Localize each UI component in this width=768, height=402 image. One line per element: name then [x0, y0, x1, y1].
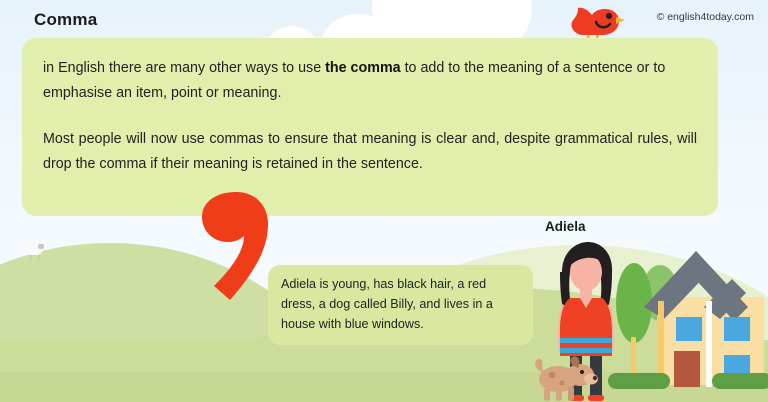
lesson-paragraph-1-part-a: in English there are many other ways to …	[43, 60, 325, 76]
character-name-label: Adiela	[545, 219, 586, 234]
lesson-poster: Comma © english4today.com in English the…	[0, 0, 768, 402]
house-window-icon	[676, 317, 702, 341]
lesson-paragraph-1-bold: the comma	[325, 60, 400, 76]
sheep-icon	[38, 244, 44, 249]
house-icon	[608, 245, 768, 402]
lesson-paragraph-2: Most people will now use commas to ensur…	[43, 127, 697, 177]
house-door-icon	[674, 351, 700, 387]
example-callout-box: Adiela is young, has black hair, a red d…	[268, 265, 533, 345]
lesson-paragraph-1: in English there are many other ways to …	[43, 56, 697, 106]
lesson-text-box: in English there are many other ways to …	[22, 38, 718, 216]
copyright-credit: © english4today.com	[657, 11, 754, 23]
example-sentence: Adiela is young, has black hair, a red d…	[281, 274, 520, 334]
house-window-icon	[724, 317, 750, 341]
dog-icon	[532, 355, 598, 402]
comma-mark-icon	[196, 190, 276, 320]
page-title: Comma	[34, 10, 97, 30]
